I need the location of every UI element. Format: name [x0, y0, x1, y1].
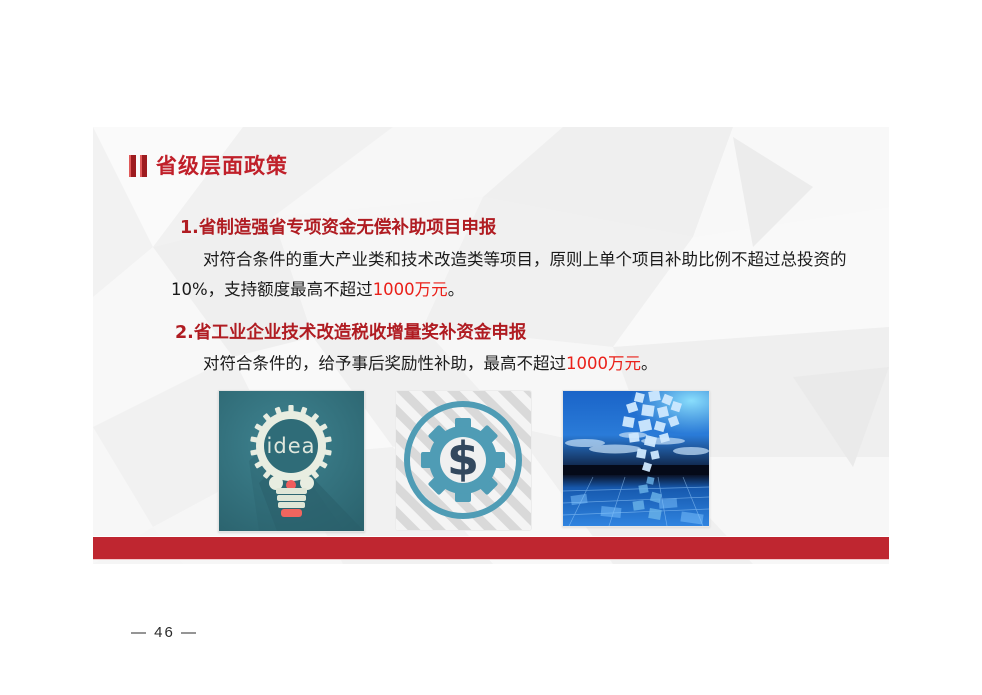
title-bar-left: [129, 155, 136, 177]
page-number: — 46 —: [131, 624, 198, 641]
image-idea-lightbulb-gears: idea: [218, 390, 365, 532]
image-blue-digital-landscape: [562, 390, 710, 527]
section-title: 省级层面政策: [129, 155, 288, 177]
bottom-accent-band: [93, 536, 889, 560]
item-1-body: 对符合条件的重大产业类和技术改造类等项目，原则上单个项目补助比例不超过总投资的1…: [171, 245, 871, 305]
item-2-body-suffix: 。: [641, 354, 658, 373]
idea-label: idea: [267, 434, 316, 458]
dollar-symbol: $: [447, 432, 479, 486]
item-2-body-highlight: 1000万元: [566, 354, 641, 373]
title-bars-icon: [129, 155, 147, 177]
item-2-body: 对符合条件的，给予事后奖励性补助，最高不超过1000万元。: [171, 349, 871, 379]
item-1-heading: 1.省制造强省专项资金无偿补助项目申报: [180, 214, 496, 239]
item-1-body-prefix: 对符合条件的重大产业类和技术改造类等项目，原则上单个项目补助比例不超过总投资的1…: [171, 250, 847, 299]
title-bar-right: [140, 155, 147, 177]
image-dollar-gear-circle: $: [395, 390, 532, 531]
slide-canvas: 省级层面政策 1.省制造强省专项资金无偿补助项目申报 对符合条件的重大产业类和技…: [93, 127, 889, 564]
item-1-body-highlight: 1000万元: [373, 280, 448, 299]
image-row: idea: [93, 389, 889, 534]
section-title-text: 省级层面政策: [156, 156, 288, 177]
item-1-body-suffix: 。: [448, 280, 465, 299]
item-2-heading: 2.省工业企业技术改造税收增量奖补资金申报: [175, 319, 526, 344]
item-2-body-prefix: 对符合条件的，给予事后奖励性补助，最高不超过: [203, 354, 566, 373]
